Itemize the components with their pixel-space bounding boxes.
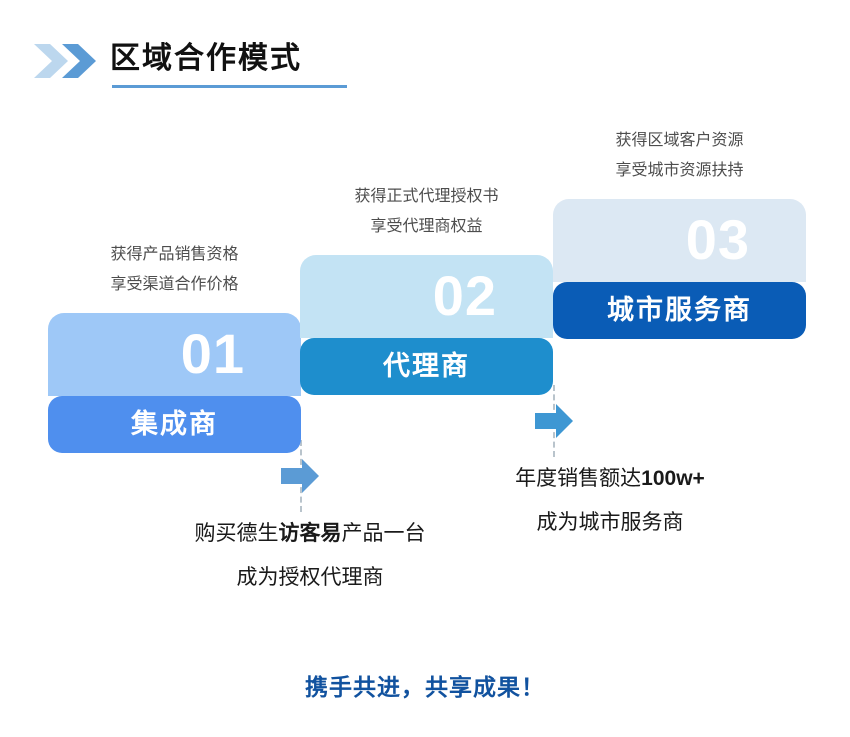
caption-line-2: 享受渠道合作价格	[48, 270, 301, 300]
card-top-03: 03	[553, 199, 806, 282]
card-body-01: 01 集成商	[48, 313, 301, 453]
step-caption-03: 获得区域客户资源 享受城市资源扶持	[553, 126, 806, 186]
step-caption-02: 获得正式代理授权书 享受代理商权益	[300, 182, 553, 242]
note-line-1: 年度销售额达100w+	[410, 457, 810, 501]
note-line1-bold: 100w+	[641, 467, 705, 490]
step-name-01: 集成商	[131, 396, 218, 453]
caption-line-1: 获得区域客户资源	[553, 126, 806, 156]
card-bar-02: 代理商	[300, 338, 553, 395]
step-name-02: 代理商	[383, 338, 470, 395]
step-caption-01: 获得产品销售资格 享受渠道合作价格	[48, 240, 301, 300]
card-body-03: 03 城市服务商	[553, 199, 806, 339]
card-top-01: 01	[48, 313, 301, 396]
step-number-01: 01	[181, 317, 245, 391]
card-body-02: 02 代理商	[300, 255, 553, 395]
arrow-right-icon	[535, 404, 573, 438]
caption-line-2: 享受城市资源扶持	[553, 156, 806, 186]
note-line1-prefix: 年度销售额达	[515, 467, 641, 490]
caption-line-1: 获得产品销售资格	[48, 240, 301, 270]
card-top-02: 02	[300, 255, 553, 338]
footer-slogan: 携手共进，共享成果！	[0, 668, 850, 702]
step-number-02: 02	[433, 259, 497, 333]
note-step2: 年度销售额达100w+ 成为城市服务商	[410, 457, 810, 545]
caption-line-1: 获得正式代理授权书	[300, 182, 553, 212]
step-number-03: 03	[686, 203, 750, 277]
note-line1-bold: 访客易	[279, 522, 342, 545]
card-bar-01: 集成商	[48, 396, 301, 453]
caption-line-2: 享受代理商权益	[300, 212, 553, 242]
note-line1-prefix: 购买德生	[195, 522, 279, 545]
note-line-2: 成为城市服务商	[410, 501, 810, 545]
step-name-03: 城市服务商	[607, 282, 752, 339]
card-bar-03: 城市服务商	[553, 282, 806, 339]
note-line-2: 成为授权代理商	[110, 556, 510, 600]
